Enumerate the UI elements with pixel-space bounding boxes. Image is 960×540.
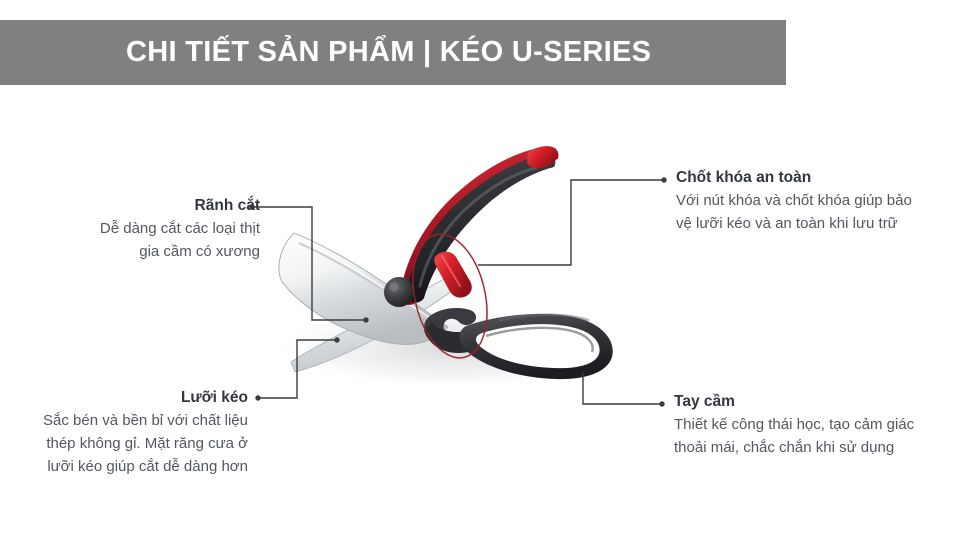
leader-dot-luoi-keo-target <box>334 337 339 342</box>
callout-line: gia cầm có xương <box>0 240 260 263</box>
callout-line: thép không gỉ. Mặt răng cưa ở <box>0 432 248 455</box>
callout-luoi-keo: Lưỡi kéo Sắc bén và bền bỉ với chất liệu… <box>0 388 248 479</box>
infographic-page: CHI TIẾT SẢN PHẨM | KÉO U-SERIES <box>0 0 960 540</box>
leader-dot-chot-khoa-text <box>661 177 666 182</box>
leader-line-chot-khoa <box>478 180 662 265</box>
callout-line: Với nút khóa và chốt khóa giúp bảo <box>676 189 960 212</box>
pivot-screw <box>384 277 414 307</box>
callout-title: Rãnh cắt <box>0 196 260 217</box>
callout-line: thoải mái, chắc chắn khi sử dụng <box>674 436 960 459</box>
callout-title: Lưỡi kéo <box>0 388 248 409</box>
leader-dot-ranh-cat-target <box>363 317 368 322</box>
leader-dot-luoi-keo-text <box>255 395 260 400</box>
callout-line: lưỡi kéo giúp cắt dễ dàng hơn <box>0 455 248 478</box>
callout-ranh-cat: Rãnh cắt Dễ dàng cắt các loại thịt gia c… <box>0 196 260 263</box>
leader-line-tay-cam <box>583 372 660 404</box>
callout-chot-khoa-an-toan: Chốt khóa an toàn Với nút khóa và chốt k… <box>676 168 960 235</box>
callout-line: Sắc bén và bền bỉ với chất liệu <box>0 409 248 432</box>
callout-tay-cam: Tay cầm Thiết kế công thái học, tạo cảm … <box>674 392 960 459</box>
pivot-screw-highlight <box>390 283 399 292</box>
callout-title: Tay cầm <box>674 392 960 413</box>
callout-line: vệ lưỡi kéo và an toàn khi lưu trữ <box>676 212 960 235</box>
leader-dot-tay-cam-text <box>659 401 664 406</box>
callout-line: Dễ dàng cắt các loại thịt <box>0 217 260 240</box>
callout-title: Chốt khóa an toàn <box>676 168 960 189</box>
callout-line: Thiết kế công thái học, tạo cảm giác <box>674 413 960 436</box>
